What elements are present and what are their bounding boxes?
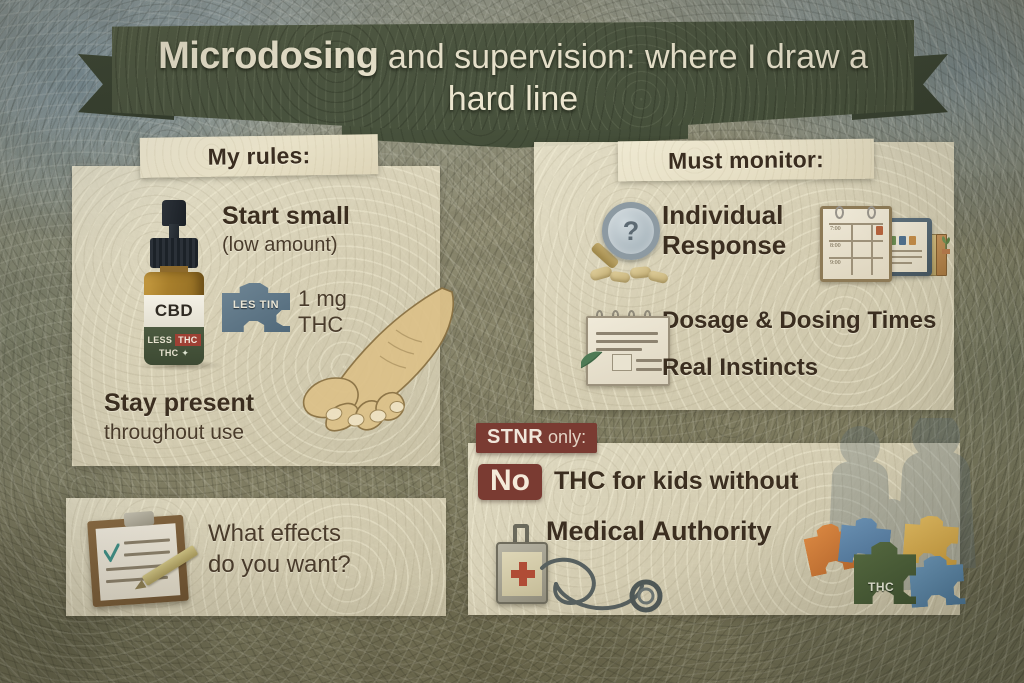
infographic-poster: Microdosing and supervision: where I dra… [0, 0, 1024, 683]
vignette-overlay [0, 0, 1024, 683]
